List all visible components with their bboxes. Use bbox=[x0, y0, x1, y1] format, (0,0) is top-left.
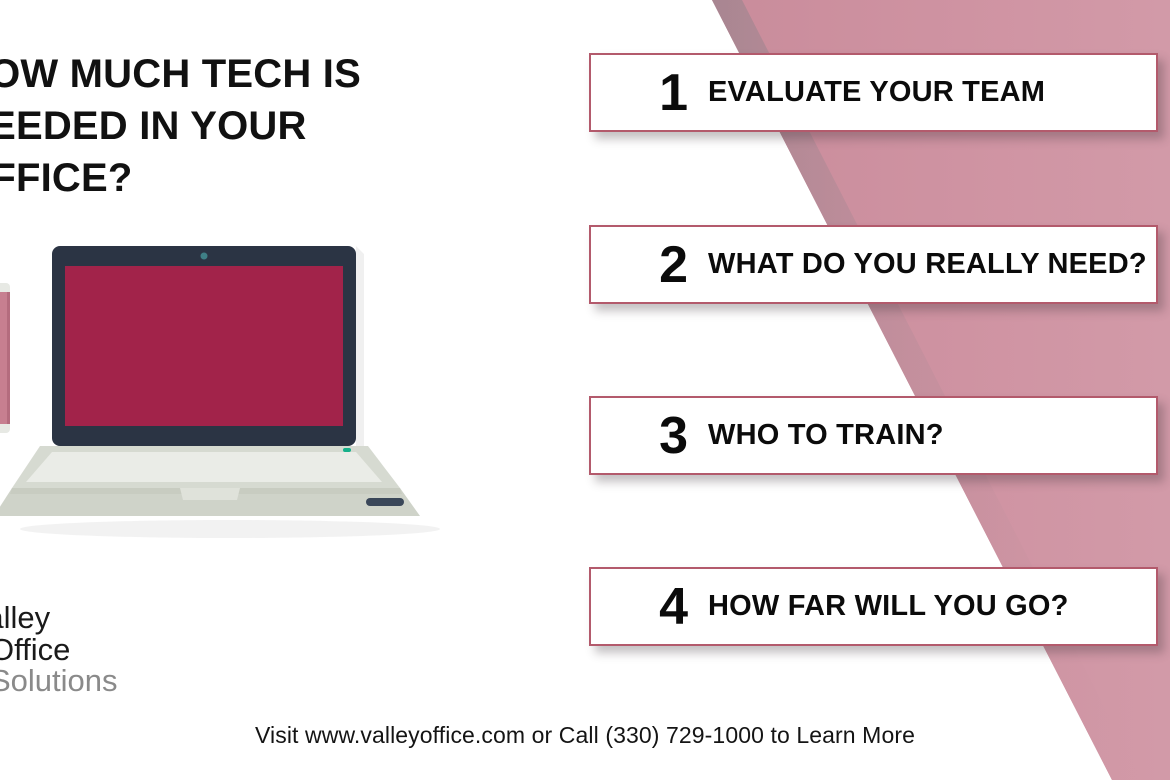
step-label-4: HOW FAR WILL YOU GO? bbox=[696, 590, 1156, 623]
step-number-1: 1 bbox=[591, 67, 696, 119]
step-number-4: 4 bbox=[591, 581, 696, 633]
infographic-slide: HOW MUCH TECH IS NEEDED IN YOUR OFFICE? bbox=[0, 0, 1170, 780]
step-label-3: WHO TO TRAIN? bbox=[696, 419, 1156, 452]
step-number-2: 2 bbox=[591, 239, 696, 291]
footer-contact-text: Visit www.valleyoffice.com or Call (330)… bbox=[0, 722, 1170, 749]
step-item-2[interactable]: 2 WHAT DO YOU REALLY NEED? bbox=[589, 225, 1158, 304]
step-label-2: WHAT DO YOU REALLY NEED? bbox=[696, 248, 1156, 281]
step-item-1[interactable]: 1 EVALUATE YOUR TEAM bbox=[589, 53, 1158, 132]
step-label-1: EVALUATE YOUR TEAM bbox=[696, 76, 1156, 109]
step-item-3[interactable]: 3 WHO TO TRAIN? bbox=[589, 396, 1158, 475]
step-number-3: 3 bbox=[591, 410, 696, 462]
step-item-4[interactable]: 4 HOW FAR WILL YOU GO? bbox=[589, 567, 1158, 646]
steps-list: 1 EVALUATE YOUR TEAM 2 WHAT DO YOU REALL… bbox=[0, 0, 1170, 780]
